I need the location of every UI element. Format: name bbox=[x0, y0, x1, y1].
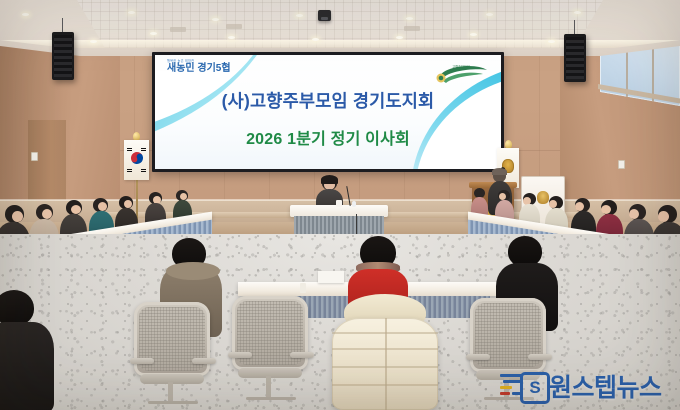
light-switch-left bbox=[31, 152, 38, 161]
conference-hall-photo: 행복한 농촌 희망찬 새농민 경기5협 고향주부모임 (사)고향주부모임 경기도… bbox=[0, 0, 680, 410]
speaker-rod-left bbox=[62, 18, 63, 32]
line-array-speaker-right bbox=[564, 34, 586, 82]
downlight bbox=[128, 11, 135, 14]
puffer-jacket-body bbox=[332, 318, 438, 410]
logo-letter-s: S bbox=[520, 372, 550, 404]
downlight bbox=[548, 40, 555, 43]
svg-text:고향주부모임: 고향주부모임 bbox=[452, 64, 470, 69]
downlight bbox=[90, 40, 97, 43]
projection-screen: 행복한 농촌 희망찬 새농민 경기5협 고향주부모임 (사)고향주부모임 경기도… bbox=[152, 52, 504, 172]
screen-title-sub: 2026 1분기 정기 이사회 bbox=[155, 125, 501, 149]
screen-title-main: (사)고향주부모임 경기도지회 bbox=[155, 88, 501, 113]
downlight bbox=[212, 18, 219, 21]
downlight bbox=[296, 14, 303, 17]
downlight bbox=[396, 36, 403, 39]
ceiling-vent bbox=[404, 26, 420, 31]
downlight bbox=[228, 36, 235, 39]
water-cup bbox=[352, 201, 356, 207]
downlight bbox=[486, 13, 493, 16]
screen-brandmark: 행복한 농촌 희망찬 새농민 경기5협 bbox=[167, 60, 297, 74]
head-table-skirt bbox=[294, 216, 384, 235]
watermark: S 원스텝뉴스 bbox=[500, 368, 662, 404]
downlight bbox=[470, 33, 477, 36]
ceiling-vent bbox=[170, 27, 186, 32]
ceiling-vent bbox=[226, 24, 242, 29]
watermark-text: 원스텝뉴스 bbox=[549, 368, 662, 404]
line-array-speaker-left bbox=[52, 32, 74, 80]
brandmark-name: 새농민 경기5협 bbox=[167, 64, 297, 74]
downlight bbox=[406, 17, 413, 20]
downlight bbox=[150, 32, 157, 35]
onestep-news-logo-icon: S bbox=[500, 371, 544, 401]
fur-collar bbox=[166, 262, 220, 280]
ceiling-projector bbox=[318, 10, 331, 21]
speaker-rod-right bbox=[574, 20, 575, 34]
water-cup bbox=[300, 283, 306, 293]
downlight bbox=[574, 11, 581, 14]
document-stack bbox=[318, 271, 344, 283]
name-card-head-table bbox=[336, 200, 342, 207]
taeguk-symbol bbox=[128, 150, 144, 166]
green-swoosh-emblem: 고향주부모임 bbox=[433, 61, 489, 87]
downlight bbox=[22, 13, 29, 16]
light-switch-right bbox=[618, 160, 625, 169]
korean-national-flag bbox=[124, 140, 149, 180]
downlight bbox=[312, 38, 319, 41]
sideboard-emblem bbox=[537, 191, 549, 204]
